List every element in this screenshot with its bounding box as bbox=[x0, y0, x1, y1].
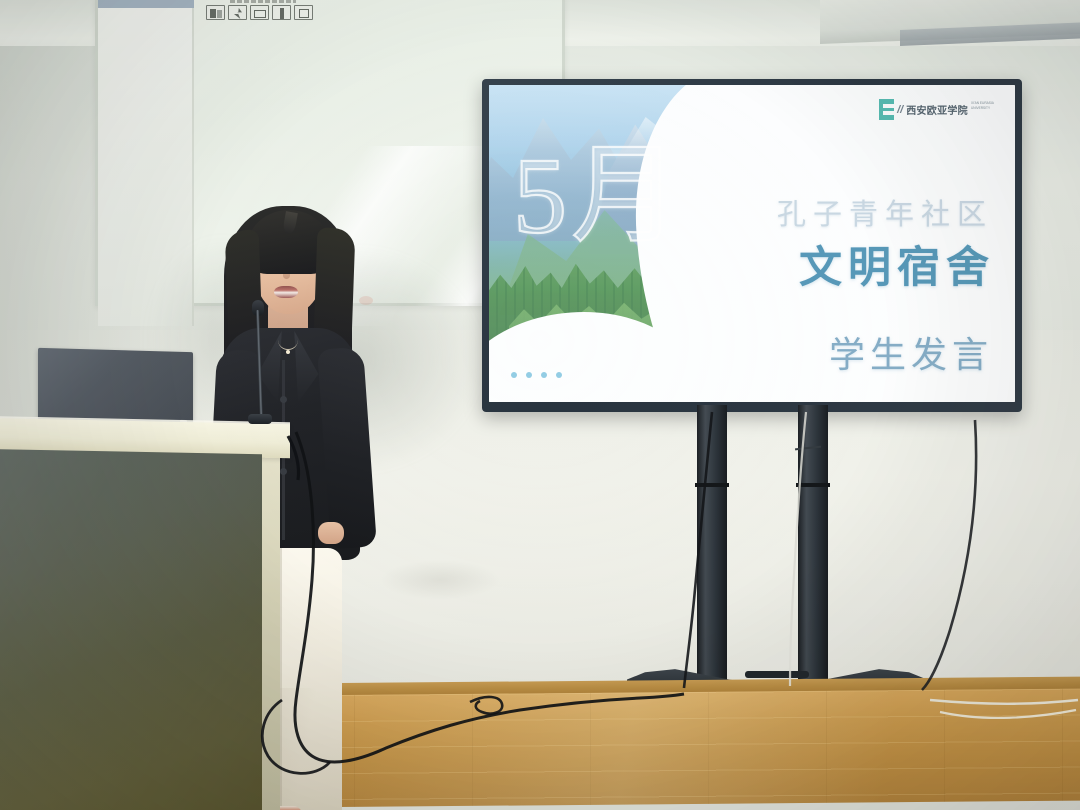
black-cable-down-left-column bbox=[684, 412, 712, 688]
mic-cable bbox=[288, 436, 299, 480]
white-cable-floor-right bbox=[930, 700, 1078, 704]
white-cable-down-right-column bbox=[790, 412, 806, 686]
white-cable-floor-loop bbox=[940, 710, 1076, 718]
classroom-scene: 5月 // 西安欧亚学院 XI'AN EURASIA UNIVERSITY 孔子… bbox=[0, 0, 1080, 810]
black-cable-loop-knot bbox=[470, 697, 502, 714]
black-cable-right-wall bbox=[922, 420, 976, 690]
cable-group bbox=[0, 0, 1080, 810]
